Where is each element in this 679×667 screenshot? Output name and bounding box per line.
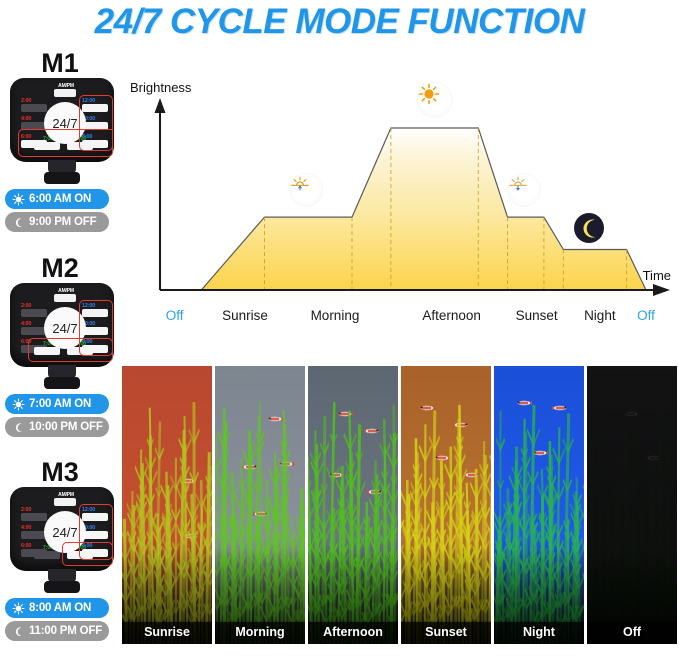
moon-icon (12, 216, 25, 229)
x-tick-afternoon-3: Afternoon (407, 308, 497, 323)
moon-icon (12, 421, 25, 434)
left-time-row[interactable]: 2:00 (21, 303, 49, 320)
device-base (44, 172, 80, 184)
photo-pane-sunset: Sunset (401, 366, 491, 644)
sun-icon (12, 193, 25, 206)
pane-caption: Morning (215, 625, 305, 639)
x-tick-morning-2: Morning (290, 308, 380, 323)
night-badge (574, 213, 604, 243)
device-base (44, 581, 80, 593)
sunrise-badge (290, 174, 322, 206)
photo-pane-night: Night (494, 366, 584, 644)
on-time-label: 6:00 AM ON (29, 193, 91, 205)
brightness-cycle-chart: Brightness Time (126, 80, 679, 338)
infographic-page: 24/7 CYCLE MODE FUNCTION M1 AM/PM 2:00 4… (0, 0, 679, 667)
pane-caption: Sunset (401, 625, 491, 639)
mode-title-m2: M2 (4, 253, 116, 283)
photo-pane-morning: Morning (215, 366, 305, 644)
off-time-label: 10:00 PM OFF (29, 421, 103, 433)
bottom-time-key[interactable] (34, 551, 60, 559)
photo-pane-off: Off (587, 366, 677, 644)
sunset-badge (508, 174, 540, 206)
mode-title-m3: M3 (4, 457, 116, 487)
pane-caption: Sunrise (122, 625, 212, 639)
device-housing: AM/PM 2:00 4:00 6:00 12:00 10:00 8:00 (10, 487, 114, 571)
aquarium-photo-strip: Sunrise (122, 366, 677, 644)
on-time-pill-m3: 8:00 AM ON (5, 598, 109, 618)
pane-caption: Night (494, 625, 584, 639)
ampm-button[interactable] (54, 294, 76, 302)
controller-device-m1: AM/PM 2:00 4:00 6:00 12:00 10:00 8:00 (6, 78, 118, 186)
off-time-pill-m3: 11:00 PM OFF (5, 621, 109, 641)
left-time-key[interactable] (21, 513, 47, 521)
left-time-key[interactable] (21, 309, 47, 317)
off-time-label: 9:00 PM OFF (29, 216, 96, 228)
controller-device-m3: AM/PM 2:00 4:00 6:00 12:00 10:00 8:00 (6, 487, 118, 595)
y-axis-arrow-icon (155, 98, 166, 113)
off-time-pill-m2: 10:00 PM OFF (5, 417, 109, 437)
mode-block-m1: M1 AM/PM 2:00 4:00 6:00 12:00 10:00 8:00 (0, 48, 124, 232)
on-time-pill-m2: 7:00 AM ON (5, 394, 109, 414)
device-base (44, 377, 80, 389)
mode-block-m3: M3 AM/PM 2:00 4:00 6:00 12:00 10:00 8:00 (0, 457, 124, 641)
midday-badge (418, 83, 452, 117)
ampm-button[interactable] (54, 498, 76, 506)
moon-icon (12, 625, 25, 638)
off-time-label: 11:00 PM OFF (29, 625, 102, 637)
left-time-row[interactable]: 2:00 (21, 98, 49, 115)
chart-svg (126, 80, 679, 338)
pane-caption: Off (587, 625, 677, 639)
device-housing: AM/PM 2:00 4:00 6:00 12:00 10:00 8:00 (10, 283, 114, 367)
highlight-bottom-pair (28, 338, 113, 362)
on-time-label: 8:00 AM ON (29, 602, 91, 614)
photo-pane-sunrise: Sunrise (122, 366, 212, 644)
mode-block-m2: M2 AM/PM 2:00 4:00 6:00 12:00 10:00 8:00 (0, 253, 124, 437)
x-tick-sunrise-1: Sunrise (200, 308, 290, 323)
left-time-row[interactable]: 2:00 (21, 507, 49, 524)
device-housing: AM/PM 2:00 4:00 6:00 12:00 10:00 8:00 (10, 78, 114, 162)
ampm-button[interactable] (54, 89, 76, 97)
sun-icon (12, 398, 25, 411)
on-time-label: 7:00 AM ON (29, 398, 91, 410)
sun-icon (12, 602, 25, 615)
x-axis-arrow-icon (653, 284, 670, 296)
highlight-left-bottom (18, 129, 113, 157)
pane-caption: Afternoon (308, 625, 398, 639)
highlight-bottom-single (62, 542, 113, 566)
chart-area-fill (160, 128, 646, 290)
x-tick-off-6: Off (601, 308, 679, 323)
off-time-pill-m1: 9:00 PM OFF (5, 212, 109, 232)
page-title: 24/7 CYCLE MODE FUNCTION (0, 2, 679, 42)
left-time-key[interactable] (21, 104, 47, 112)
photo-pane-afternoon: Afternoon (308, 366, 398, 644)
controller-device-m2: AM/PM 2:00 4:00 6:00 12:00 10:00 8:00 (6, 283, 118, 391)
on-time-pill-m1: 6:00 AM ON (5, 189, 109, 209)
mode-title-m1: M1 (4, 48, 116, 78)
